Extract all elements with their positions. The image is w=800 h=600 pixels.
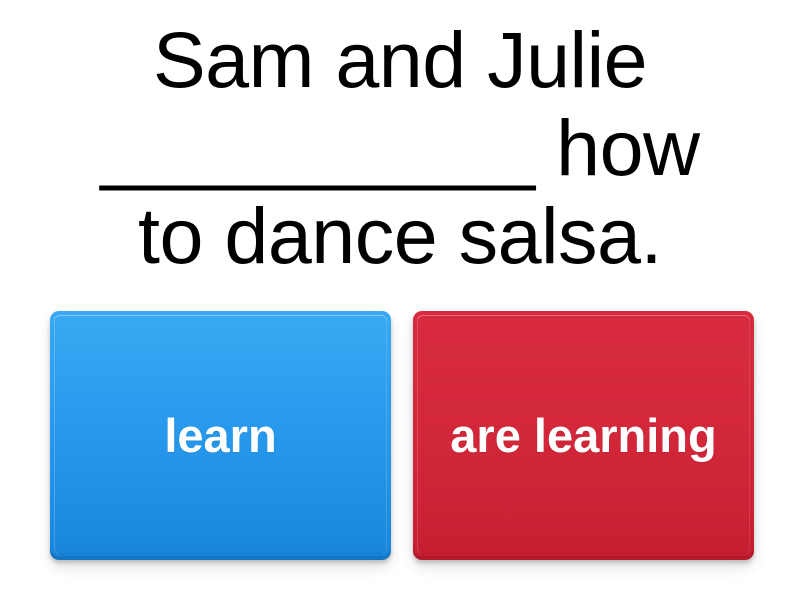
question-prompt-line-2: __________ how <box>20 104 780 192</box>
question-prompt: Sam and Julie <box>20 16 780 104</box>
answer-option-are-learning[interactable]: are learning <box>413 311 754 560</box>
question-prompt-line-3: to dance salsa. <box>20 192 780 280</box>
answer-options-row: learn are learning <box>50 311 754 563</box>
answer-option-learn[interactable]: learn <box>50 311 391 560</box>
quiz-stage: Sam and Julie __________ how to dance sa… <box>0 0 800 600</box>
answer-option-label: learn <box>164 411 276 460</box>
answer-option-label: are learning <box>450 411 716 460</box>
question-area: Sam and Julie __________ how to dance sa… <box>0 16 800 296</box>
